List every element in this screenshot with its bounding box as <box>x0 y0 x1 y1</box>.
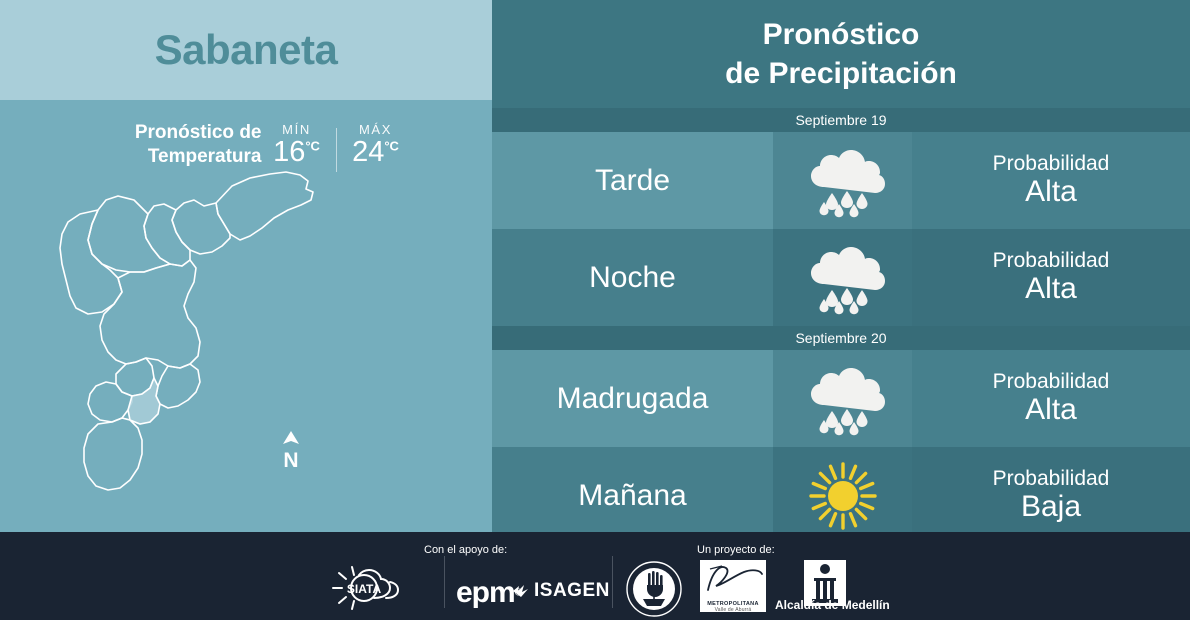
map-area-girardota <box>172 200 230 254</box>
map-area-san-pedro <box>60 210 122 314</box>
project-caption: Un proyecto de: <box>697 544 775 556</box>
period-label-noche: Noche <box>492 229 773 326</box>
isagen-logo: ISAGEN <box>512 580 610 602</box>
compass-label: N <box>278 450 304 471</box>
support-caption: Con el apoyo de: <box>424 544 507 556</box>
map-area-caldas <box>84 418 142 490</box>
forecast-row-tarde: Tarde Probabilidad Alta <box>492 132 1190 229</box>
temperature-label-line1: Pronóstico de <box>135 122 262 143</box>
map-area-envigado <box>156 364 200 408</box>
period-label-manana: Mañana <box>492 447 773 544</box>
rain-cloud-icon <box>800 143 886 219</box>
rain-cloud-icon <box>800 361 886 437</box>
probability-word-madrugada: Probabilidad <box>993 370 1110 394</box>
isagen-mark-icon <box>512 582 530 600</box>
footer: Con el apoyo de: Un proyecto de: SIATA <box>0 532 1190 620</box>
max-caption: MÁX <box>341 122 411 137</box>
footer-divider-2 <box>612 556 613 608</box>
aburra-valley-map <box>18 148 378 508</box>
period-label-tarde: Tarde <box>492 132 773 229</box>
map-area-medellin <box>100 260 200 368</box>
probability-value-tarde: Alta <box>1025 175 1077 209</box>
epm-logo-text: epm <box>456 576 515 609</box>
weather-icon-cell-manana <box>773 447 912 544</box>
weather-icon-cell-tarde <box>773 132 912 229</box>
north-arrow-icon <box>278 430 304 446</box>
forecast-row-madrugada: Madrugada Probabilidad Alta <box>492 350 1190 447</box>
area-metropolitana-sub2: Valle de Aburrá <box>700 607 766 613</box>
isagen-logo-text: ISAGEN <box>534 580 610 602</box>
probability-cell-madrugada: Probabilidad Alta <box>912 350 1190 447</box>
probability-value-noche: Alta <box>1025 272 1077 306</box>
sun-icon <box>803 456 883 536</box>
map-panel: Pronóstico de Temperatura MÍN 16°C MÁX 2… <box>0 100 492 532</box>
probability-value-madrugada: Alta <box>1025 393 1077 427</box>
siata-logo-text: SIATA <box>347 582 382 596</box>
alcaldia-medellin-text: Alcaldía de Medellín <box>775 598 890 612</box>
compass-north: N <box>278 430 304 471</box>
forecast-row-manana: Mañana <box>492 447 1190 544</box>
probability-value-manana: Baja <box>1021 490 1081 524</box>
area-metropolitana-logo: METROPOLITANA Valle de Aburrá <box>700 560 766 612</box>
max-degree-unit: °C <box>384 139 399 154</box>
siata-logo: SIATA <box>330 564 426 617</box>
min-caption: MÍN <box>262 122 332 137</box>
map-area-copacabana <box>144 204 190 266</box>
period-label-madrugada: Madrugada <box>492 350 773 447</box>
city-name: Sabaneta <box>155 26 338 74</box>
footer-divider-1 <box>444 556 445 608</box>
map-area-sabaneta-highlight <box>128 378 160 424</box>
udea-logo <box>626 561 682 620</box>
probability-cell-tarde: Probabilidad Alta <box>912 132 1190 229</box>
udea-seal-icon <box>626 561 682 617</box>
map-area-barbosa <box>216 172 313 240</box>
probability-cell-manana: Probabilidad Baja <box>912 447 1190 544</box>
weather-icon-cell-madrugada <box>773 350 912 447</box>
forecast-title-line2: de Precipitación <box>725 54 957 93</box>
left-panel: Sabaneta Pronóstico de Temperatura MÍN 1… <box>0 0 492 532</box>
weather-icon-cell-noche <box>773 229 912 326</box>
probability-word-tarde: Probabilidad <box>993 152 1110 176</box>
siata-logo-icon: SIATA <box>330 564 426 612</box>
map-area-bello <box>88 196 170 272</box>
city-header: Sabaneta <box>0 0 492 100</box>
date-bar-1: Septiembre 20 <box>492 326 1190 350</box>
forecast-infographic: Sabaneta Pronóstico de Temperatura MÍN 1… <box>0 0 1190 620</box>
forecast-title: Pronóstico de Precipitación <box>492 0 1190 108</box>
probability-cell-noche: Probabilidad Alta <box>912 229 1190 326</box>
map-area-la-estrella <box>88 382 132 422</box>
forecast-panel: Pronóstico de Precipitación Septiembre 1… <box>492 0 1190 532</box>
forecast-row-noche: Noche Probabilidad Alta <box>492 229 1190 326</box>
forecast-title-line1: Pronóstico <box>763 15 920 54</box>
date-bar-0: Septiembre 19 <box>492 108 1190 132</box>
probability-word-noche: Probabilidad <box>993 249 1110 273</box>
rain-cloud-icon <box>800 240 886 316</box>
probability-word-manana: Probabilidad <box>993 467 1110 491</box>
area-script-icon <box>700 560 766 596</box>
